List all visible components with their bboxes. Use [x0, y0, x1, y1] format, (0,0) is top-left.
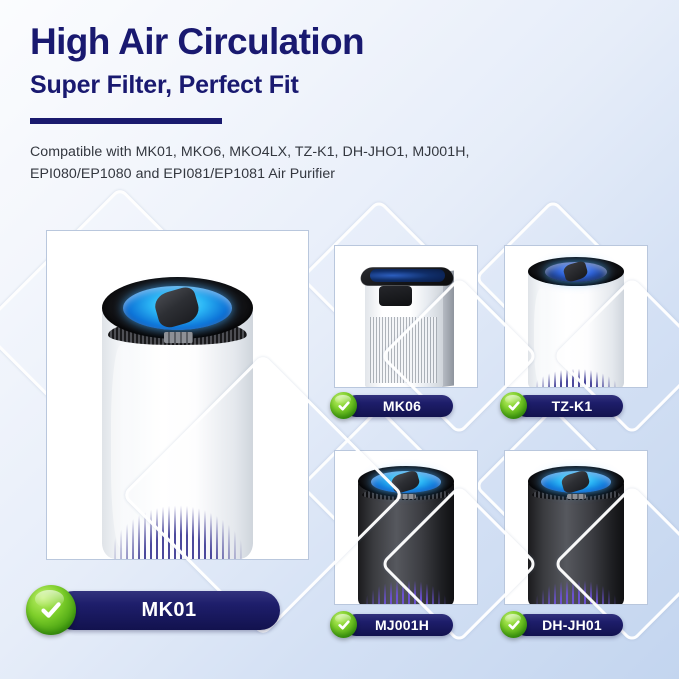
badge-tzk1[interactable]: TZ-K1 — [500, 392, 623, 419]
badge-label-mk06: MK06 — [345, 395, 453, 417]
product-card-mj001h[interactable] — [334, 450, 478, 605]
compatibility-line-1: Compatible with MK01, MKO6, MKO4LX, TZ-K… — [30, 141, 650, 163]
check-icon — [330, 611, 357, 638]
product-image-dh-jh01 — [505, 451, 647, 604]
badge-label-mk01: MK01 — [54, 591, 280, 630]
badge-label-dh-jh01: DH-JH01 — [515, 614, 623, 636]
air-purifier-cylinder-white — [528, 257, 625, 388]
product-card-dh-jh01[interactable] — [504, 450, 648, 605]
control-buttons — [567, 494, 585, 499]
badge-mk06[interactable]: MK06 — [330, 392, 453, 419]
product-image-mk06 — [335, 246, 477, 387]
air-intake-perforations — [534, 361, 617, 388]
check-icon — [500, 392, 527, 419]
fan-glow — [370, 269, 446, 282]
page-title: High Air Circulation — [30, 22, 650, 63]
air-purifier-tower-white — [355, 254, 460, 387]
display-panel — [379, 286, 412, 306]
air-intake-perforations — [534, 570, 617, 605]
check-icon — [26, 585, 76, 635]
air-intake-mesh — [370, 317, 437, 383]
product-image-mk01 — [47, 231, 308, 559]
air-intake-perforations — [364, 570, 447, 605]
compatibility-text: Compatible with MK01, MKO6, MKO4LX, TZ-K… — [30, 141, 650, 185]
title-divider — [30, 118, 222, 124]
badge-mj001h[interactable]: MJ001H — [330, 611, 453, 638]
product-card-tzk1[interactable] — [504, 245, 648, 388]
page-subtitle: Super Filter, Perfect Fit — [30, 71, 650, 100]
check-icon — [500, 611, 527, 638]
product-card-mk01[interactable] — [46, 230, 309, 560]
air-purifier-cylinder-black — [358, 466, 455, 605]
badge-label-tzk1: TZ-K1 — [515, 395, 623, 417]
badge-mk01[interactable]: MK01 — [26, 585, 280, 635]
compatibility-line-2: EPI080/EP1080 and EPI081/EP1081 Air Puri… — [30, 163, 650, 185]
control-buttons — [397, 494, 415, 499]
badge-dh-jh01[interactable]: DH-JH01 — [500, 611, 623, 638]
header: High Air Circulation Super Filter, Perfe… — [30, 22, 650, 185]
control-buttons — [164, 332, 193, 343]
air-intake-perforations — [112, 486, 242, 559]
product-card-mk06[interactable] — [334, 245, 478, 388]
check-icon — [330, 392, 357, 419]
badge-label-mj001h: MJ001H — [345, 614, 453, 636]
product-image-mj001h — [335, 451, 477, 604]
product-image-tzk1 — [505, 246, 647, 387]
air-purifier-cylinder-black — [528, 466, 625, 605]
air-purifier-cylinder-white — [102, 277, 253, 559]
